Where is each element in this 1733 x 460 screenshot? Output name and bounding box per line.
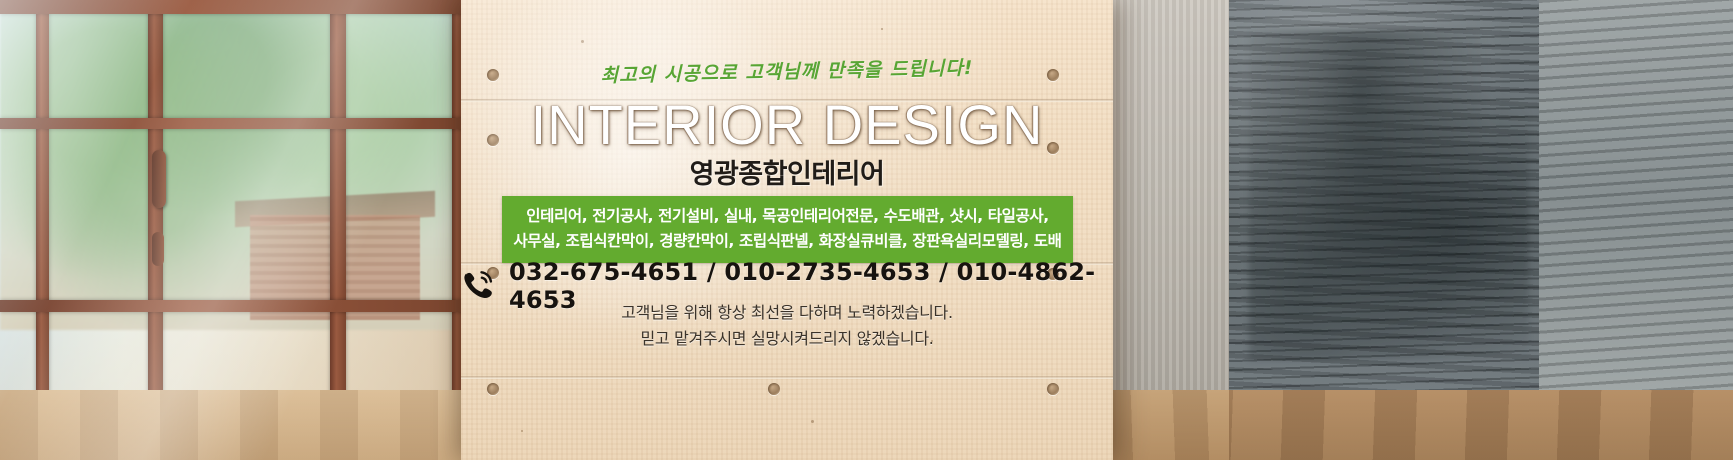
closing-line-2: 믿고 맡겨주시면 실망시켜드리지 않겠습니다. [461,326,1113,352]
banner-content: 최고의 시공으로 고객님께 만족을 드립니다! INTERIOR DESIGN … [461,0,1113,460]
wood-panel: 최고의 시공으로 고객님께 만족을 드립니다! INTERIOR DESIGN … [461,0,1113,460]
services-line-2: 사무실, 조립식칸막이, 경량칸막이, 조립식판넬, 화장실큐비클, 장판욕실리… [508,229,1067,254]
concrete-wall-right [1539,0,1733,400]
closing-line-1: 고객님을 위해 항상 최선을 다하며 노력하겠습니다. [461,300,1113,326]
phone-icon [461,270,495,302]
services-box: 인테리어, 전기공사, 전기설비, 실내, 목공인테리어전문, 수도배관, 샷시… [502,196,1073,263]
right-concrete-room-photo [1099,0,1733,460]
left-window-photo [0,0,470,460]
headline: INTERIOR DESIGN [461,92,1113,157]
interior-design-banner: 최고의 시공으로 고객님께 만족을 드립니다! INTERIOR DESIGN … [0,0,1733,460]
window-handle-icon [152,150,166,208]
concrete-stain-texture [1249,30,1529,360]
right-wood-floor-left [1099,390,1229,460]
tagline: 최고의 시공으로 고객님께 만족을 드립니다! [461,50,1113,91]
company-name: 영광종합인테리어 [461,152,1113,191]
window-latch-icon [152,232,164,266]
closing-message: 고객님을 위해 항상 최선을 다하며 노력하겠습니다. 믿고 맡겨주시면 실망시… [461,300,1113,352]
services-line-1: 인테리어, 전기공사, 전기설비, 실내, 목공인테리어전문, 수도배관, 샷시… [508,204,1067,229]
left-wood-floor [0,390,470,460]
